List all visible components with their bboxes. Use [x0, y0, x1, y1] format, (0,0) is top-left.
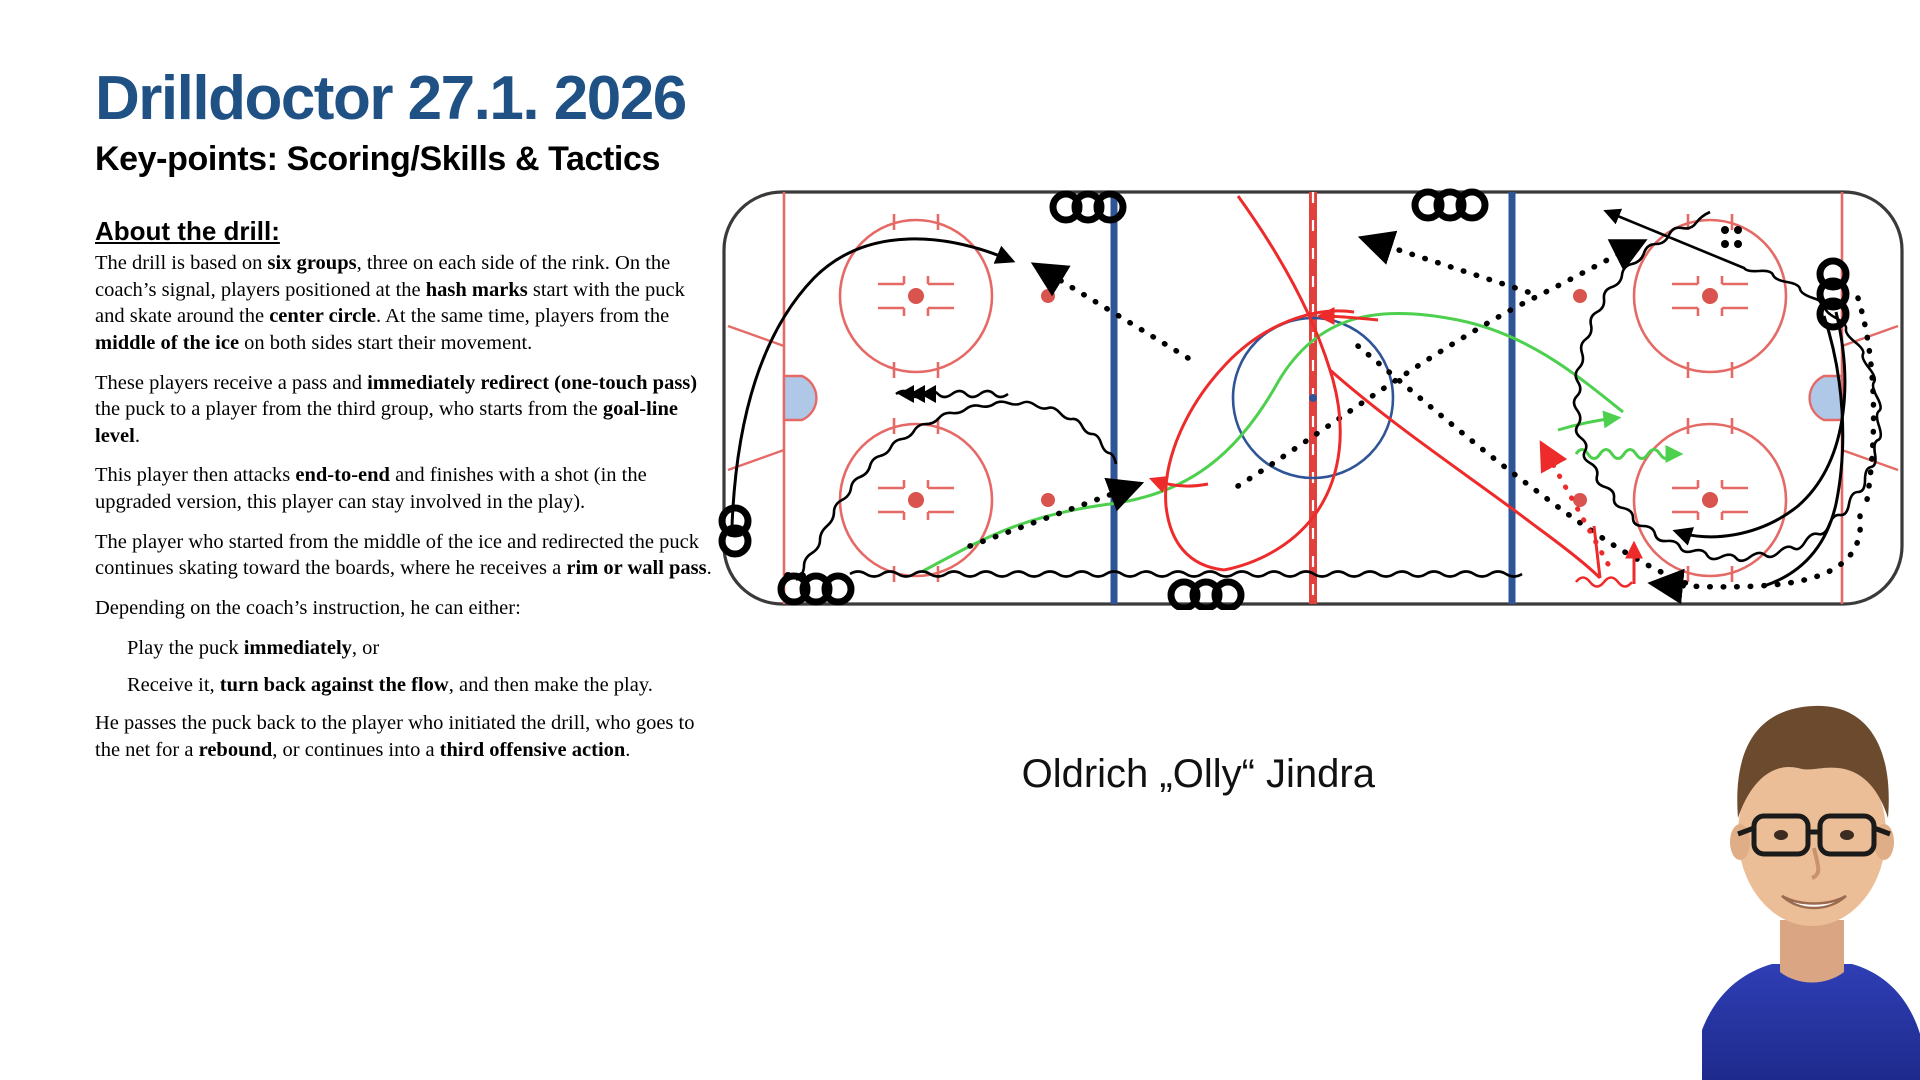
drill-option-item: Play the puck immediately, or: [95, 635, 713, 662]
drill-paragraph: Depending on the coach’s instruction, he…: [95, 595, 713, 622]
author-name: Oldrich „Olly“ Jindra: [975, 752, 1375, 797]
page-subtitle: Key-points: Scoring/Skills & Tactics: [95, 142, 660, 176]
drill-description: The drill is based on six groups, three …: [95, 250, 713, 776]
drill-paragraph: The player who started from the middle o…: [95, 529, 713, 582]
author-portrait: [1702, 620, 1920, 1080]
hockey-rink-diagram: [718, 186, 1908, 610]
goal-crease-left: [784, 376, 816, 420]
drill-option-item: Receive it, turn back against the flow, …: [95, 672, 713, 699]
page-title: Drilldoctor 27.1. 2026: [95, 68, 686, 130]
slide-canvas: Drilldoctor 27.1. 2026 Key-points: Scori…: [0, 0, 1920, 1080]
goal-crease-right: [1810, 376, 1842, 420]
about-the-drill-heading: About the drill:: [95, 218, 280, 244]
drill-paragraph: This player then attacks end-to-end and …: [95, 462, 713, 515]
drill-paragraph: He passes the puck back to the player wh…: [95, 710, 713, 763]
drill-paragraph: These players receive a pass and immedia…: [95, 370, 713, 450]
drill-paragraph: The drill is based on six groups, three …: [95, 250, 713, 357]
